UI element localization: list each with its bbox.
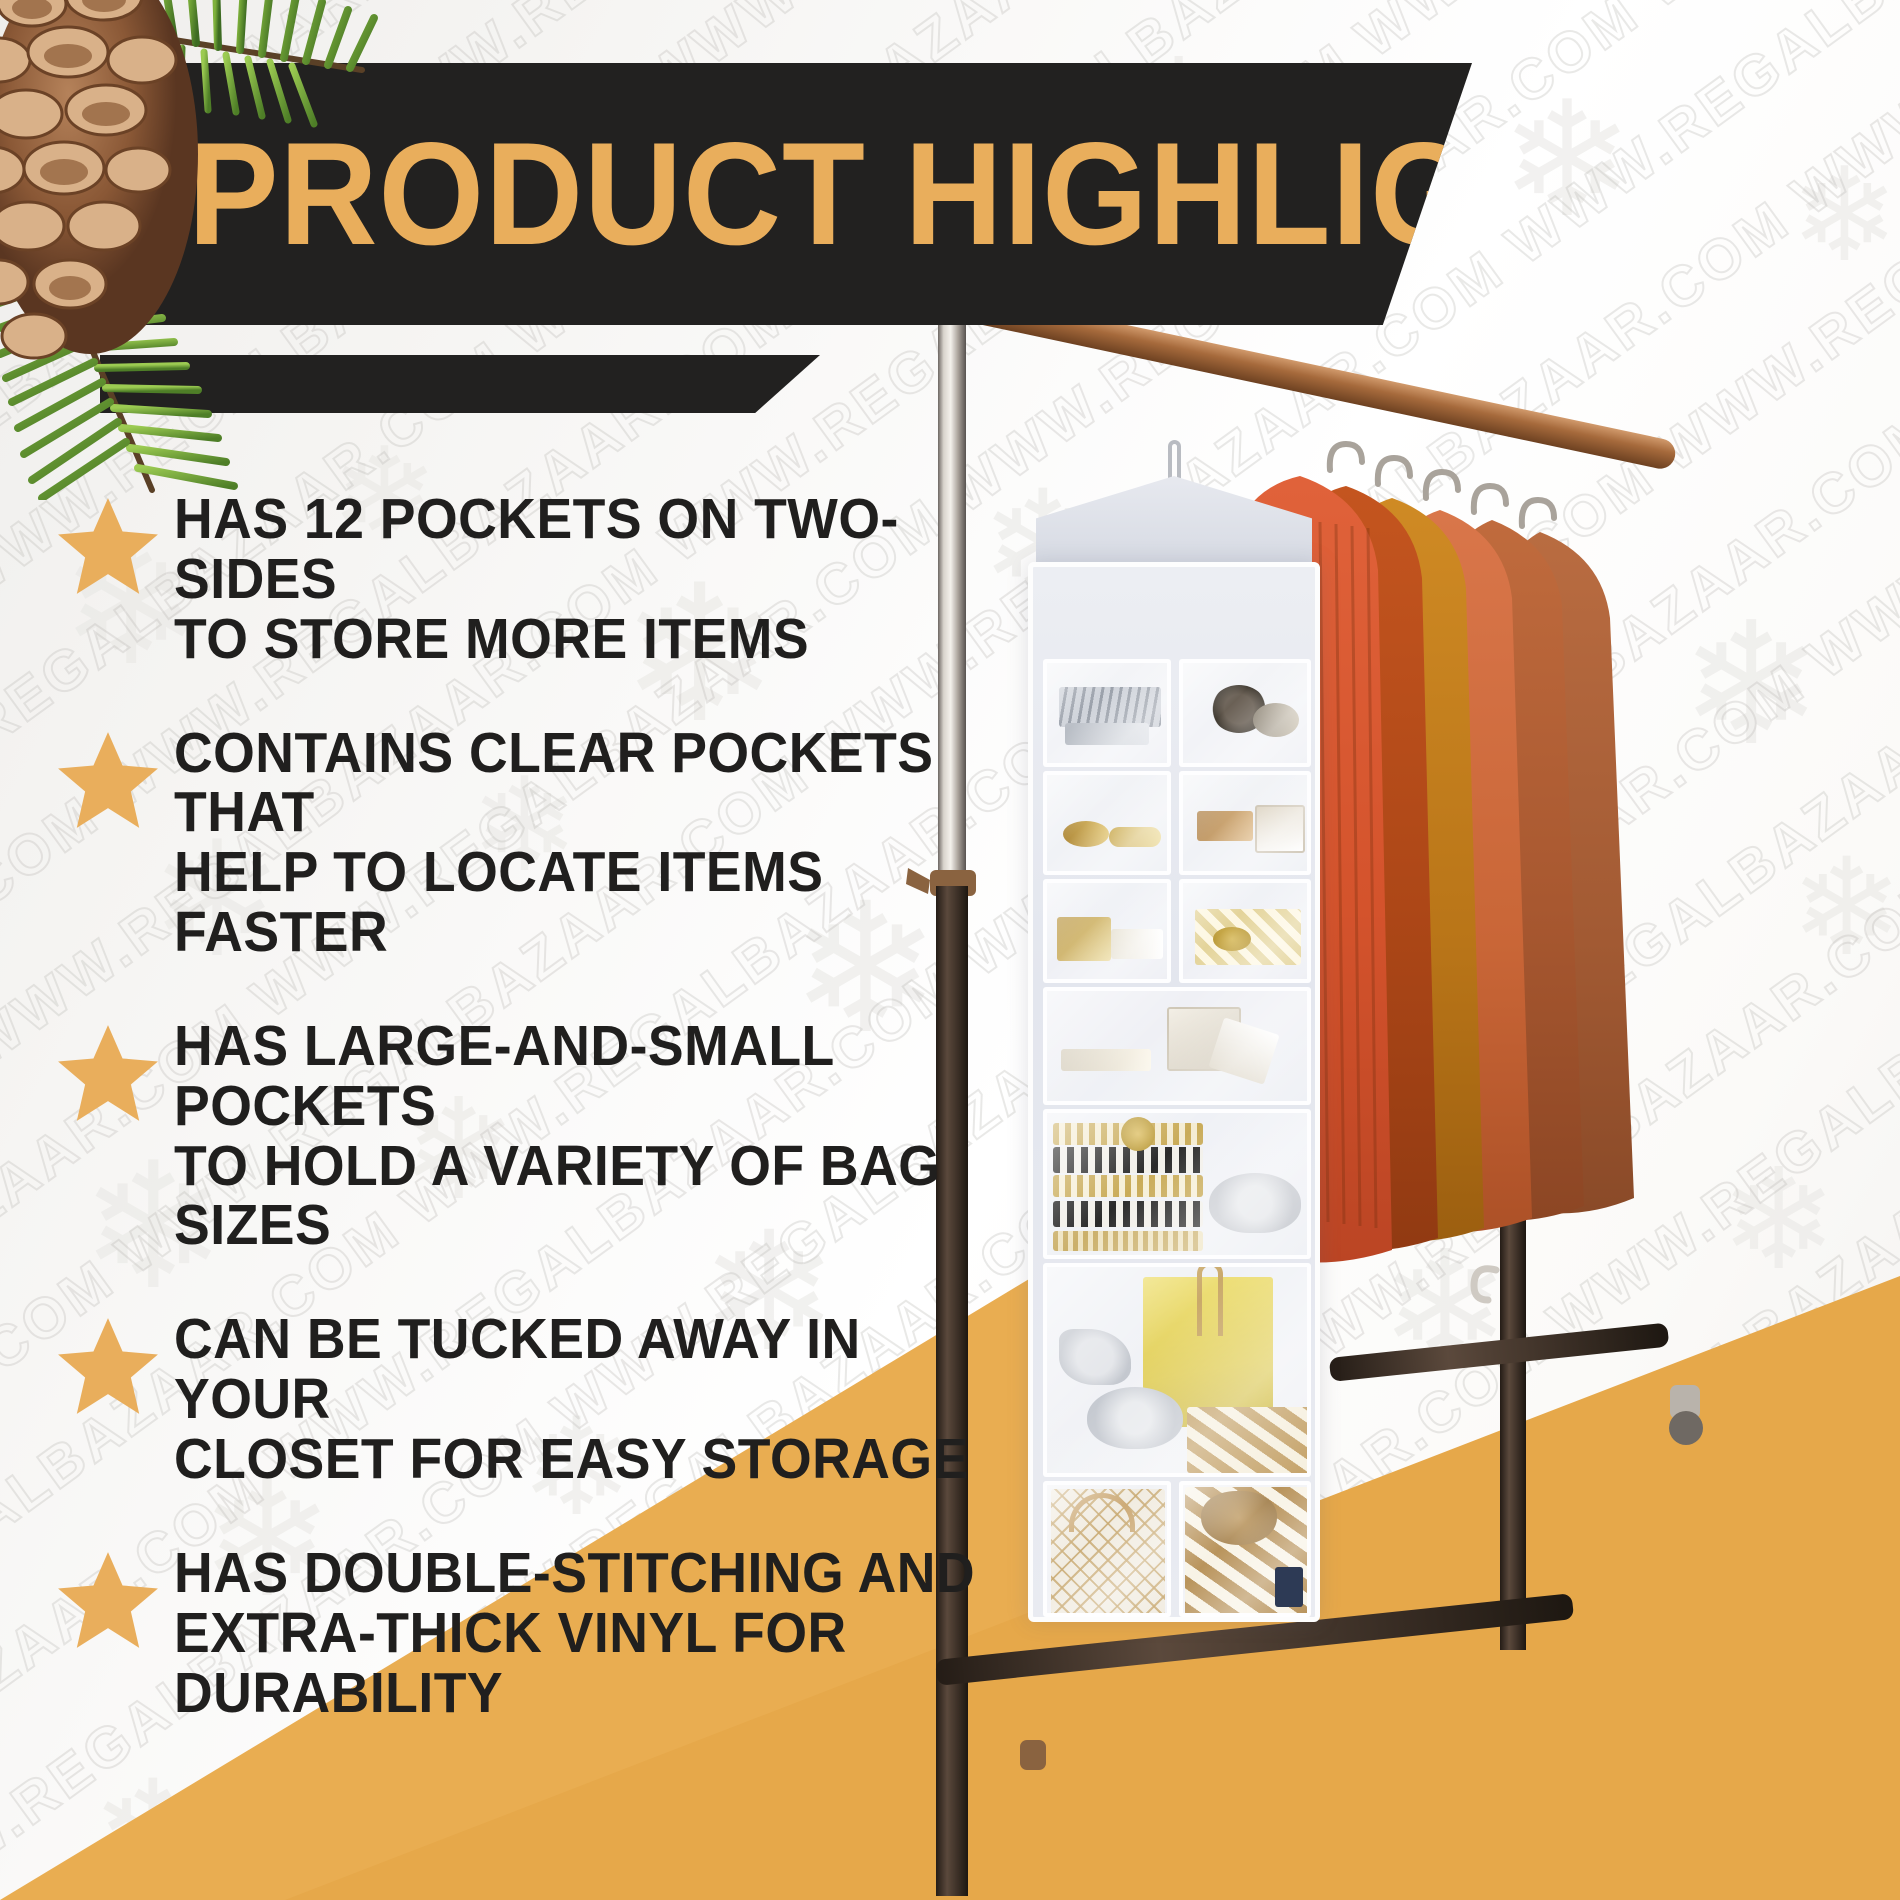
highlight-item: CAN BE TUCKED AWAY IN YOUR CLOSET FOR EA… xyxy=(42,1310,1042,1490)
pocket xyxy=(1043,1109,1311,1259)
star-icon xyxy=(56,1316,160,1416)
product-photo xyxy=(900,180,1900,1900)
organizer-top-panel xyxy=(1036,476,1312,568)
star-icon xyxy=(56,496,160,596)
pocket xyxy=(1043,771,1171,875)
highlight-item: CONTAINS CLEAR POCKETS THAT HELP TO LOCA… xyxy=(42,724,1042,963)
star-icon-wrap xyxy=(42,1544,174,1650)
brand-tag xyxy=(1275,1567,1303,1607)
star-icon-wrap xyxy=(42,1310,174,1416)
star-icon xyxy=(56,1023,160,1123)
pocket xyxy=(1179,771,1311,875)
star-icon-wrap xyxy=(42,724,174,830)
hanging-organizer-icon xyxy=(1028,476,1320,1622)
highlight-item: HAS DOUBLE-STITCHING AND EXTRA-THICK VIN… xyxy=(42,1544,1042,1724)
pocket xyxy=(1043,659,1171,767)
pocket xyxy=(1043,987,1311,1105)
highlight-text: HAS DOUBLE-STITCHING AND EXTRA-THICK VIN… xyxy=(174,1544,975,1724)
star-icon-wrap xyxy=(42,1017,174,1123)
star-icon-wrap xyxy=(42,490,174,596)
highlight-text: CONTAINS CLEAR POCKETS THAT HELP TO LOCA… xyxy=(174,724,990,963)
pocket xyxy=(1179,879,1311,983)
infographic-canvas: ❄❄❄❄❄❄❄❄❄❄❄❄❄❄❄❄❄❄❄❄❄❄❄❄❄❄❄❄❄❄❄❄❄❄❄❄ WWW… xyxy=(0,0,1900,1900)
pocket xyxy=(1043,1263,1311,1477)
pocket xyxy=(1043,1481,1171,1617)
pocket xyxy=(1043,879,1171,983)
organizer-body xyxy=(1028,562,1320,1622)
highlight-text: HAS LARGE-AND-SMALL POCKETS TO HOLD A VA… xyxy=(174,1017,990,1256)
highlight-text: CAN BE TUCKED AWAY IN YOUR CLOSET FOR EA… xyxy=(174,1310,990,1490)
star-icon xyxy=(56,1550,160,1650)
star-icon xyxy=(56,730,160,830)
pinecone-icon xyxy=(0,0,392,500)
pocket xyxy=(1179,659,1311,767)
highlight-text: HAS 12 POCKETS ON TWO-SIDES TO STORE MOR… xyxy=(174,490,990,670)
highlights-list: HAS 12 POCKETS ON TWO-SIDES TO STORE MOR… xyxy=(42,490,1042,1777)
highlight-item: HAS LARGE-AND-SMALL POCKETS TO HOLD A VA… xyxy=(42,1017,1042,1256)
highlight-item: HAS 12 POCKETS ON TWO-SIDES TO STORE MOR… xyxy=(42,490,1042,670)
